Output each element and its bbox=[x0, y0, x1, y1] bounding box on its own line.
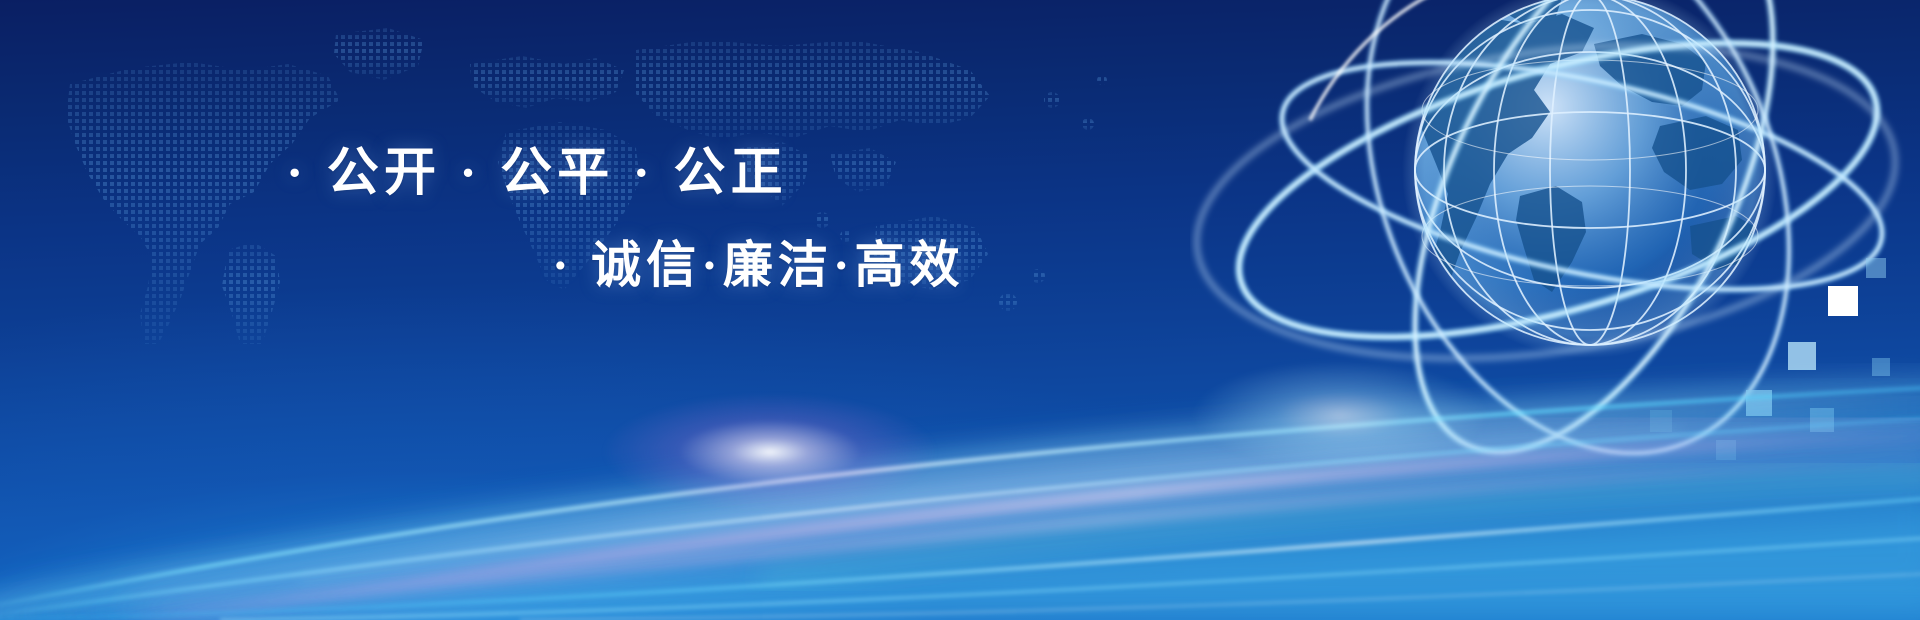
light-hotspot-right bbox=[1190, 360, 1490, 470]
light-hotspot-center bbox=[600, 392, 940, 512]
square-5 bbox=[1866, 258, 1886, 278]
promo-banner: · 公开 · 公平 · 公正 · 诚信·廉洁·高效 bbox=[0, 0, 1920, 620]
slogan-block: · 公开 · 公平 · 公正 · 诚信·廉洁·高效 bbox=[0, 0, 1160, 340]
pixel-squares bbox=[1620, 250, 1920, 480]
square-4 bbox=[1810, 408, 1834, 432]
square-2 bbox=[1788, 342, 1816, 370]
dotted-world-map bbox=[40, 14, 1160, 344]
square-6 bbox=[1716, 440, 1736, 460]
square-8 bbox=[1650, 410, 1672, 432]
square-1 bbox=[1828, 286, 1858, 316]
square-7 bbox=[1872, 358, 1890, 376]
slogan-line-1: · 公开 · 公平 · 公正 bbox=[286, 146, 788, 202]
light-wave-streaks bbox=[0, 280, 1920, 620]
wireframe-globe bbox=[1190, 0, 1920, 500]
square-3 bbox=[1746, 390, 1772, 416]
slogan-line-2: · 诚信·廉洁·高效 bbox=[552, 238, 965, 292]
